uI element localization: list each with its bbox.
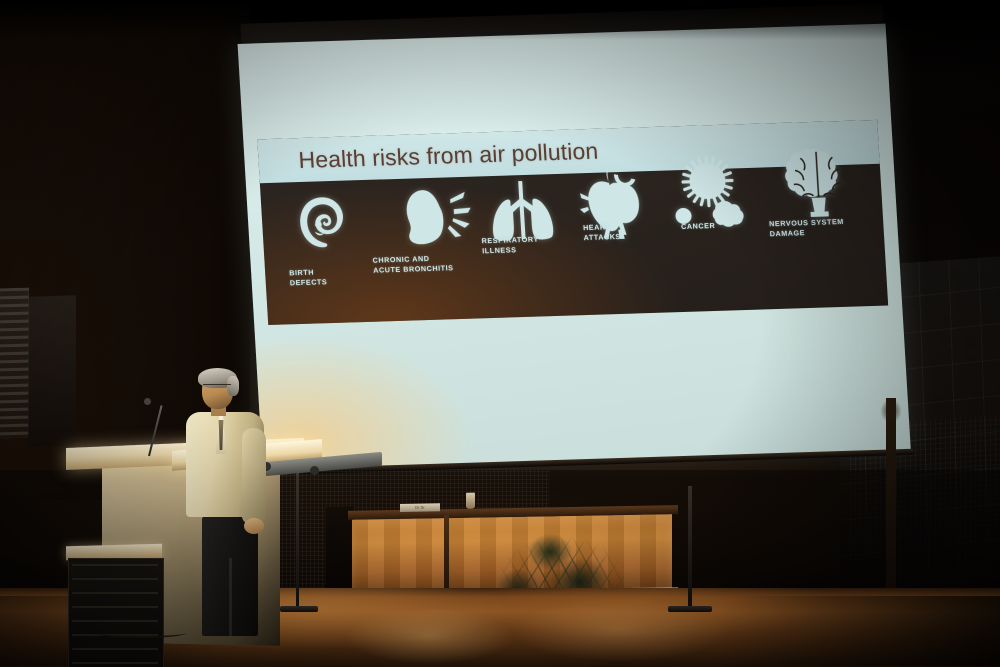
risk-label-nervous-system-damage: NERVOUS SYSTEM DAMAGE bbox=[769, 217, 845, 240]
speaker-leg-separation bbox=[229, 558, 232, 636]
risk-item-nervous-system-damage: NERVOUS SYSTEM DAMAGE bbox=[756, 138, 881, 261]
speaker-glasses bbox=[203, 384, 231, 392]
risk-label-birth-defects: BIRTH DEFECTS bbox=[289, 267, 328, 289]
table-cup bbox=[466, 493, 475, 509]
risk-item-respiratory-illness: RESPIRATORY ILLNESS bbox=[472, 174, 575, 297]
risk-label-respiratory-illness: RESPIRATORY ILLNESS bbox=[481, 235, 539, 258]
left-window-panel bbox=[0, 288, 29, 439]
table-side-panel bbox=[326, 507, 354, 597]
health-risk-icon-row: BIRTH DEFECTS CHRONIC AND ACUTE BRONCHIT… bbox=[260, 164, 888, 325]
projected-slide: Health risks from air pollution BIRTH D bbox=[257, 120, 888, 325]
risk-item-heart-attacks: HEART ATTACKS bbox=[565, 161, 664, 284]
table-divider bbox=[444, 515, 449, 597]
speaker-arm bbox=[242, 428, 266, 524]
left-dark-panel bbox=[28, 295, 76, 447]
table-name-plate: Dr Dr bbox=[400, 503, 440, 512]
speaker bbox=[186, 368, 270, 633]
slide-title: Health risks from air pollution bbox=[298, 137, 599, 173]
risk-label-bronchitis: CHRONIC AND ACUTE BRONCHITIS bbox=[372, 253, 454, 276]
coughing-head-icon bbox=[400, 186, 484, 251]
podium-microphone-head bbox=[144, 398, 151, 405]
projection-screen: Health risks from air pollution BIRTH D bbox=[236, 0, 912, 497]
podium-rail-knob-right bbox=[310, 466, 319, 475]
risk-label-heart-attacks: HEART ATTACKS bbox=[583, 222, 621, 244]
speaker-hand bbox=[244, 518, 264, 534]
presentation-photo-scene: Health risks from air pollution BIRTH D bbox=[0, 0, 1000, 667]
floor-cable bbox=[96, 628, 186, 638]
secondary-floor-stand-base bbox=[668, 606, 712, 612]
equipment-rack-slots bbox=[72, 564, 158, 664]
risk-label-cancer: CANCER bbox=[681, 221, 716, 232]
fetus-icon bbox=[296, 195, 351, 256]
screen-surface: Health risks from air pollution BIRTH D bbox=[238, 24, 911, 472]
risk-item-birth-defects: BIRTH DEFECTS bbox=[282, 188, 367, 310]
risk-item-bronchitis: CHRONIC AND ACUTE BRONCHITIS bbox=[362, 185, 479, 308]
secondary-floor-stand bbox=[688, 486, 692, 610]
risk-item-cancer: CANCER bbox=[656, 146, 763, 269]
ornate-lamp-stand bbox=[886, 398, 896, 618]
